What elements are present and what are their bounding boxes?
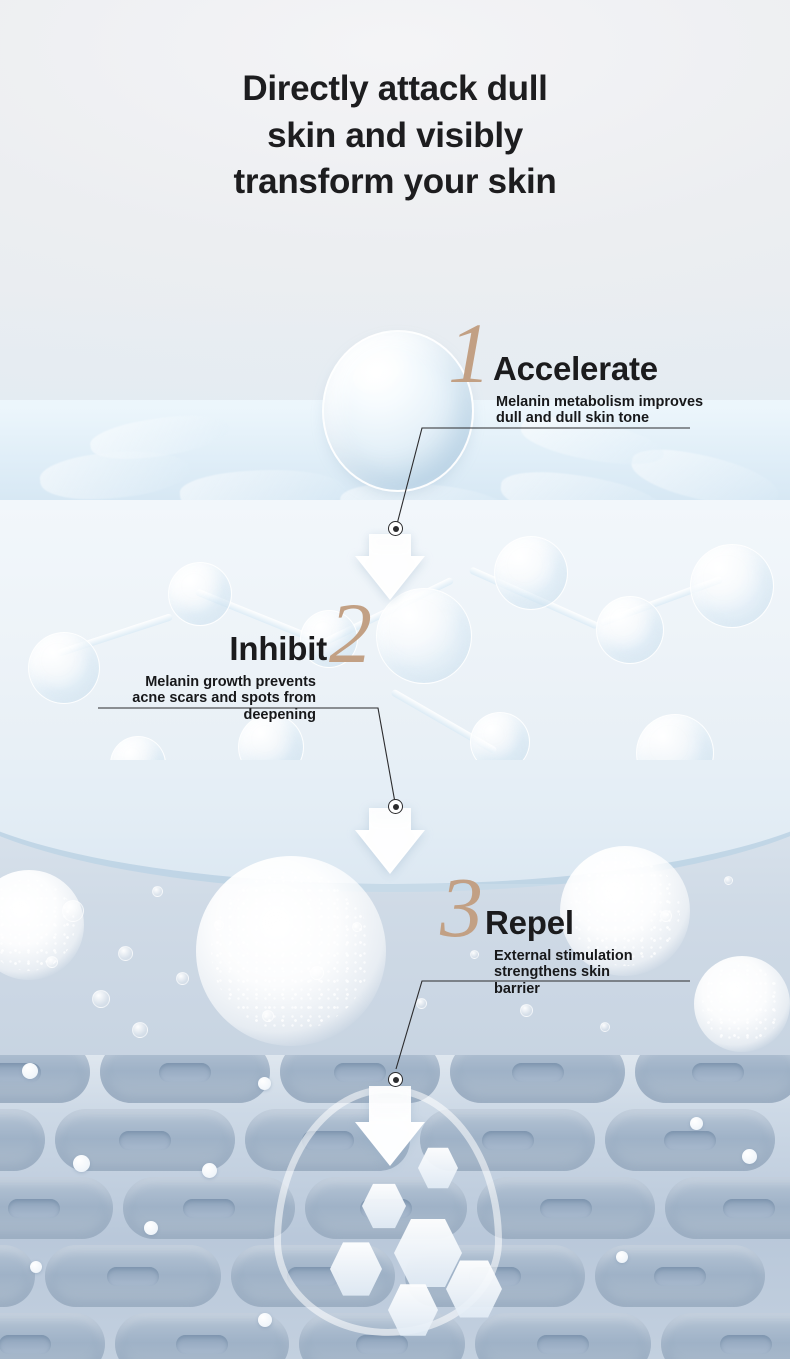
step-3-number: 3 bbox=[440, 872, 483, 943]
title-line-2: skin and visibly bbox=[0, 113, 790, 160]
product-infographic-poster: 1 Accelerate Melanin metabolism improves… bbox=[0, 0, 790, 1359]
step-3-desc-line-1: External stimulation bbox=[494, 948, 770, 965]
step-3-desc-line-2: strengthens skin bbox=[494, 964, 770, 981]
step-1-heading-row: 1 Accelerate bbox=[448, 318, 778, 389]
step-1-desc-line-2: dull and dull skin tone bbox=[496, 410, 778, 427]
step-3-description: External stimulation strengthens skin ba… bbox=[440, 948, 770, 999]
step-2-desc-line-1: Melanin growth prevents bbox=[42, 674, 316, 691]
step-1-description: Melanin metabolism improves dull and dul… bbox=[448, 394, 778, 428]
step-1-number: 1 bbox=[448, 318, 491, 389]
step-3-kicker: Repel bbox=[485, 906, 574, 943]
step-2-number: 2 bbox=[329, 598, 372, 669]
powder-sphere bbox=[196, 856, 386, 1046]
callout-step-3: 3 Repel External stimulation strengthens… bbox=[440, 872, 770, 998]
callout-step-2: Inhibit 2 Melanin growth prevents acne s… bbox=[42, 598, 372, 724]
flow-arrow-3 bbox=[355, 1086, 425, 1166]
step-2-desc-line-2: acne scars and spots from bbox=[42, 690, 316, 707]
leader-dot-2 bbox=[388, 799, 403, 814]
step-2-heading-row: Inhibit 2 bbox=[42, 598, 372, 669]
step-2-description: Melanin growth prevents acne scars and s… bbox=[42, 674, 372, 725]
leader-dot-1 bbox=[388, 521, 403, 536]
step-1-kicker: Accelerate bbox=[493, 352, 658, 389]
callout-step-1: 1 Accelerate Melanin metabolism improves… bbox=[448, 318, 778, 427]
flow-arrow-2 bbox=[355, 808, 425, 874]
leader-dot-3 bbox=[388, 1072, 403, 1087]
step-1-desc-line-1: Melanin metabolism improves bbox=[496, 394, 778, 411]
title-line-1: Directly attack dull bbox=[0, 66, 790, 113]
step-2-desc-line-3: deepening bbox=[42, 707, 316, 724]
step-2-kicker: Inhibit bbox=[229, 632, 327, 669]
step-3-heading-row: 3 Repel bbox=[440, 872, 770, 943]
title-line-3: transform your skin bbox=[0, 159, 790, 206]
step-3-desc-line-3: barrier bbox=[494, 981, 770, 998]
page-title: Directly attack dull skin and visibly tr… bbox=[0, 66, 790, 206]
powder-sphere bbox=[0, 870, 84, 980]
